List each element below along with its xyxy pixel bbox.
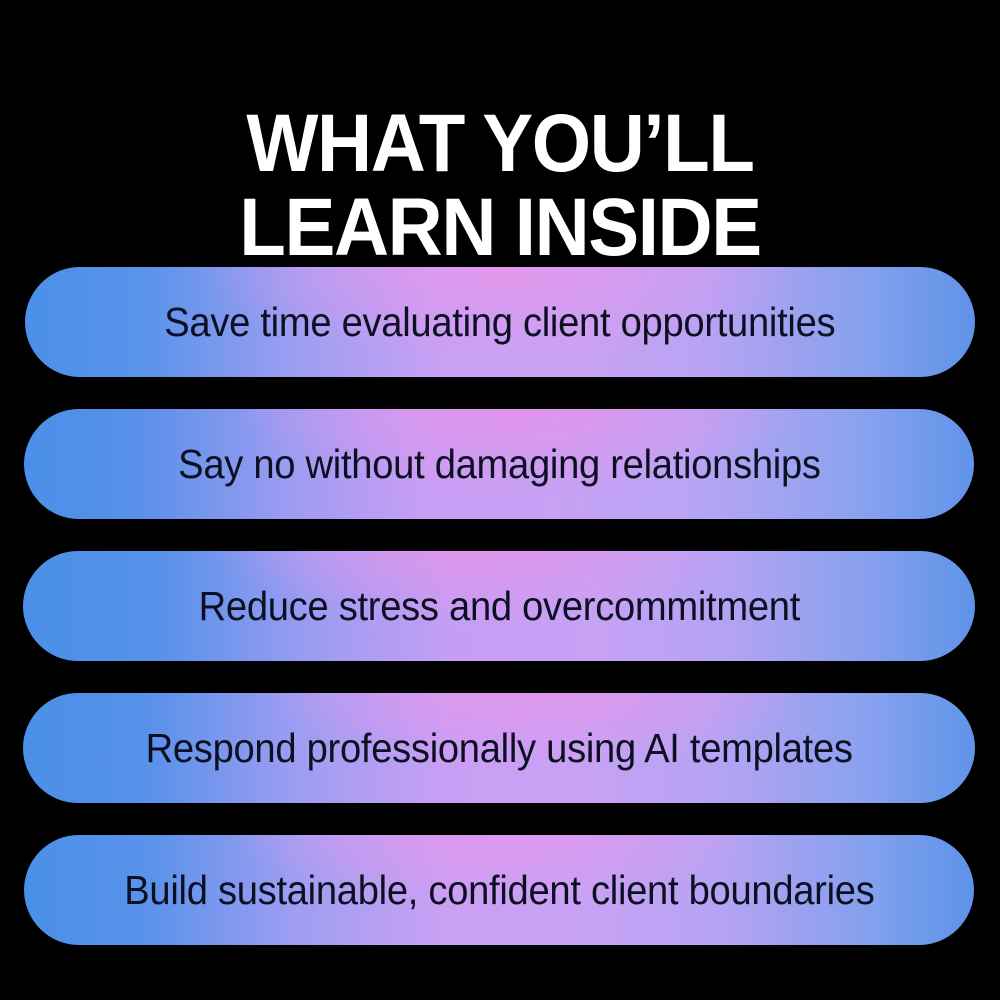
page-title-line-1: WHAT YOU’LL bbox=[35, 102, 965, 186]
poster-canvas: WHAT YOU’LL LEARN INSIDE Save time evalu… bbox=[0, 0, 1000, 1000]
benefit-pill-3[interactable]: Reduce stress and overcommitment bbox=[23, 551, 975, 661]
benefit-pill-label-2: Say no without damaging relationships bbox=[178, 441, 821, 487]
benefit-pill-label-3: Reduce stress and overcommitment bbox=[198, 583, 799, 629]
benefit-pill-5[interactable]: Build sustainable, confident client boun… bbox=[24, 835, 974, 945]
benefit-pill-label-5: Build sustainable, confident client boun… bbox=[124, 867, 874, 913]
benefit-pill-label-4: Respond professionally using AI template… bbox=[145, 725, 852, 771]
page-title: WHAT YOU’LL LEARN INSIDE bbox=[35, 102, 965, 270]
benefit-pill-label-1: Save time evaluating client opportunitie… bbox=[164, 299, 835, 345]
benefit-pill-2[interactable]: Say no without damaging relationships bbox=[24, 409, 974, 519]
page-title-line-2: LEARN INSIDE bbox=[35, 186, 965, 270]
benefit-pill-4[interactable]: Respond professionally using AI template… bbox=[23, 693, 975, 803]
benefits-list: Save time evaluating client opportunitie… bbox=[0, 267, 1000, 945]
benefit-pill-1[interactable]: Save time evaluating client opportunitie… bbox=[25, 267, 975, 377]
